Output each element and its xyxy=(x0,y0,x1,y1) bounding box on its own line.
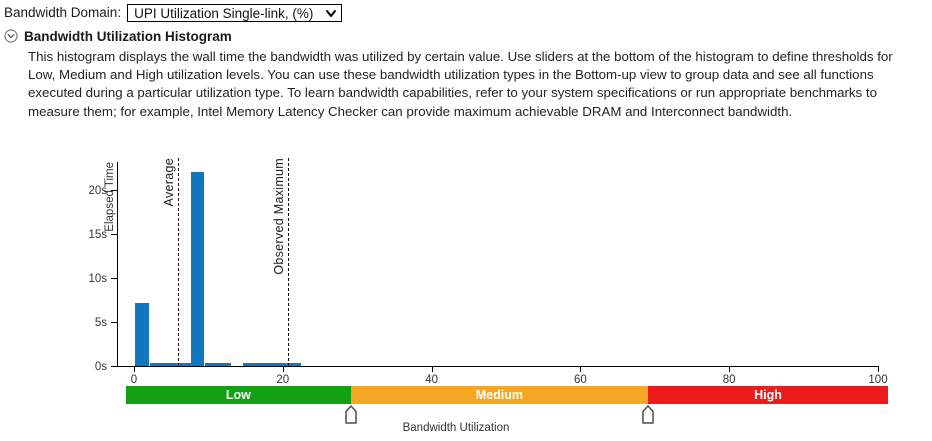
x-tick-label: 0 xyxy=(131,374,137,386)
bandwidth-domain-label: Bandwidth Domain: xyxy=(4,4,121,22)
x-tick-label: 60 xyxy=(574,374,587,386)
slider-segment-label: High xyxy=(754,388,782,402)
x-axis-title-text: Bandwidth Utilization xyxy=(403,422,510,434)
histogram-chart: Elapsed Time 0s5s10s15s20s 020406080100 … xyxy=(0,150,932,441)
bandwidth-domain-row: Bandwidth Domain: UPI Utilization Single… xyxy=(0,0,932,24)
y-tick: 0s xyxy=(111,366,117,367)
slider-segment-low[interactable]: Low xyxy=(126,386,351,404)
x-tick-label: 80 xyxy=(723,374,736,386)
slider-segment-medium[interactable]: Medium xyxy=(351,386,648,404)
histogram-bar xyxy=(135,303,148,366)
x-tick xyxy=(283,367,284,372)
x-axis-line xyxy=(117,366,879,367)
histogram-bar xyxy=(217,363,230,366)
threshold-slider[interactable]: LowMediumHigh xyxy=(126,386,888,404)
bandwidth-domain-select[interactable]: UPI Utilization Single-link, (%) xyxy=(127,4,342,22)
slider-segment-label: Low xyxy=(226,388,251,402)
section-header[interactable]: Bandwidth Utilization Histogram xyxy=(0,27,932,45)
x-tick-label: 40 xyxy=(425,374,438,386)
slider-segment-high[interactable]: High xyxy=(648,386,888,404)
plot-area: Elapsed Time 0s5s10s15s20s 020406080100 … xyxy=(0,150,932,380)
x-tick xyxy=(729,367,730,372)
page-title: Bandwidth Utilization Histogram xyxy=(24,29,232,44)
marker-label: Average xyxy=(162,158,176,206)
marker-label: Observed Maximum xyxy=(272,158,286,275)
histogram-bar xyxy=(287,363,300,366)
x-tick xyxy=(432,367,433,372)
section-description: This histogram displays the wall time th… xyxy=(28,48,908,121)
x-tick-label: 20 xyxy=(276,374,289,386)
x-tick xyxy=(134,367,135,372)
bandwidth-domain-selected-value: UPI Utilization Single-link, (%) xyxy=(134,6,313,21)
x-tick xyxy=(878,367,879,372)
bars-layer xyxy=(0,150,932,366)
circle-chevron-down-icon[interactable] xyxy=(4,29,18,43)
x-tick xyxy=(580,367,581,372)
slider-segment-label: Medium xyxy=(476,388,523,402)
marker-line xyxy=(288,158,289,366)
histogram-bar xyxy=(191,172,204,366)
x-tick-label: 100 xyxy=(868,374,887,386)
marker-line xyxy=(178,158,179,366)
chevron-down-icon xyxy=(325,7,337,19)
histogram-bars xyxy=(117,150,879,366)
x-axis-title: Bandwidth Utilization xyxy=(0,422,932,434)
